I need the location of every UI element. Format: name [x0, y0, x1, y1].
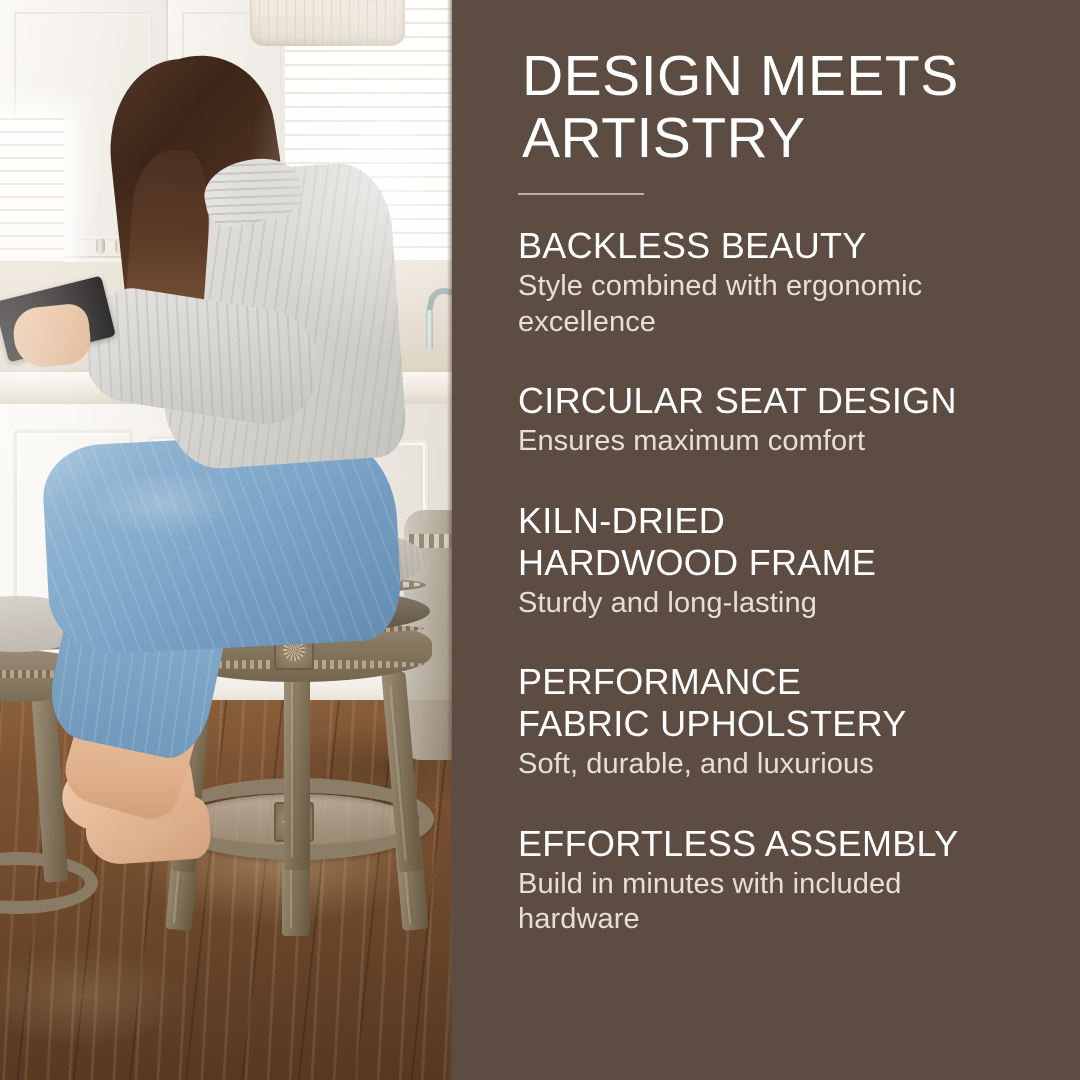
title-divider [518, 193, 644, 195]
feature-item-effortless-assembly: EFFORTLESS ASSEMBLY Build in minutes wit… [518, 823, 1080, 938]
feature-title: PERFORMANCE FABRIC UPHOLSTERY [518, 661, 1080, 745]
feature-subtitle: Style combined with ergonomic excellence [518, 269, 1080, 340]
feature-item-performance-fabric-upholstery: PERFORMANCE FABRIC UPHOLSTERY Soft, dura… [518, 661, 1080, 783]
feature-title: KILN-DRIED HARDWOOD FRAME [518, 500, 1080, 584]
feature-subtitle: Ensures maximum comfort [518, 424, 1080, 459]
feature-title: EFFORTLESS ASSEMBLY [518, 823, 1080, 865]
feature-item-kiln-dried-hardwood-frame: KILN-DRIED HARDWOOD FRAME Sturdy and lon… [518, 500, 1080, 622]
feature-item-backless-beauty: BACKLESS BEAUTY Style combined with ergo… [518, 225, 1080, 340]
feature-title: BACKLESS BEAUTY [518, 225, 1080, 267]
feature-list-panel: DESIGN MEETS ARTISTRY BACKLESS BEAUTY St… [452, 0, 1080, 1080]
feature-subtitle: Sturdy and long-lasting [518, 586, 1080, 621]
feature-subtitle: Soft, durable, and luxurious [518, 747, 1080, 782]
infographic-page: DESIGN MEETS ARTISTRY BACKLESS BEAUTY St… [0, 0, 1080, 1080]
feature-title: CIRCULAR SEAT DESIGN [518, 380, 1080, 422]
model-person [0, 0, 452, 1080]
page-title: DESIGN MEETS ARTISTRY [522, 45, 1080, 169]
product-lifestyle-photo [0, 0, 452, 1080]
feature-subtitle: Build in minutes with included hardware [518, 867, 1080, 938]
feature-item-circular-seat-design: CIRCULAR SEAT DESIGN Ensures maximum com… [518, 380, 1080, 459]
hand [11, 302, 93, 370]
feature-list: BACKLESS BEAUTY Style combined with ergo… [518, 225, 1080, 937]
